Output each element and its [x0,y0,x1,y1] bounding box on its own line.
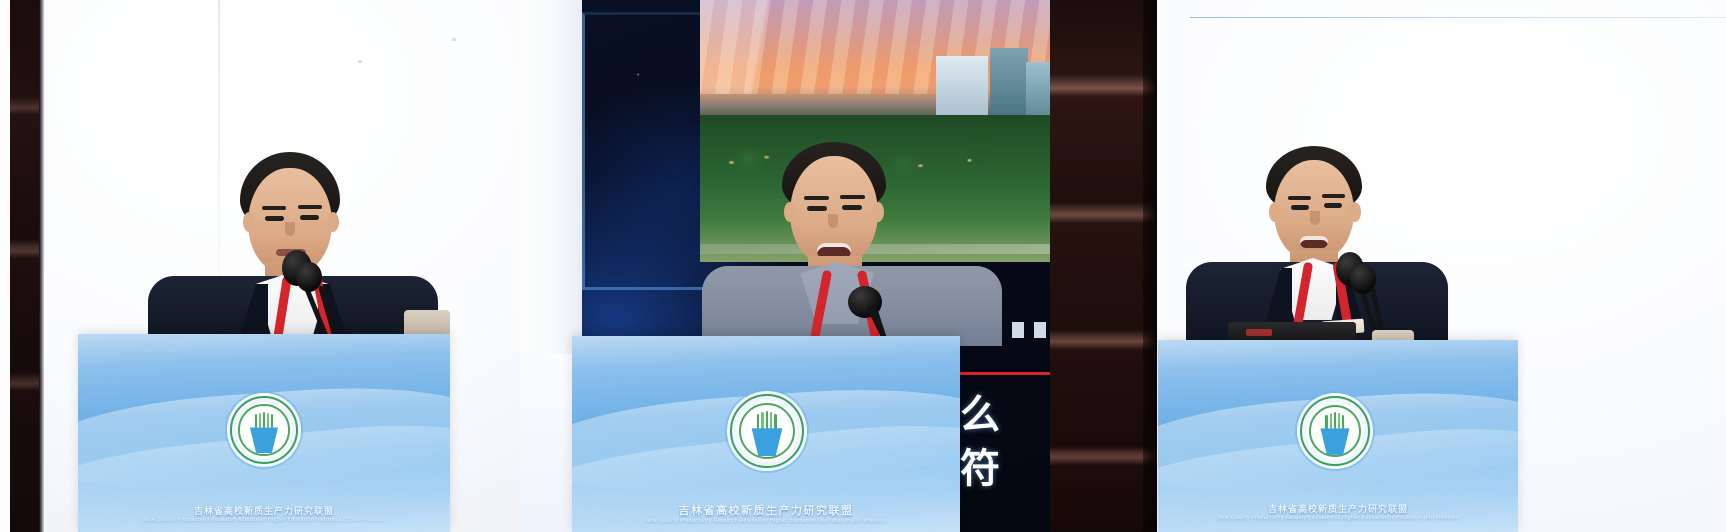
screen-speck [358,60,362,63]
slide-top-rule [1190,17,1726,18]
lectern-right: 吉林省高校新质生产力研究联盟 New Quality Productivity … [1158,340,1518,532]
alliance-emblem [1300,396,1370,466]
lectern-left: 吉林省高校新质生产力研究联盟 New Quality Productivity … [78,334,450,532]
screen-speck [452,38,456,41]
lectern-wordmark-text: 吉林省高校新质生产力研究联盟 [194,507,334,517]
lectern-center: 吉林省高校新质生产力研究联盟 New Quality Productivity … [572,336,960,532]
lectern-wordmark-right: 吉林省高校新质生产力研究联盟 New Quality Productivity … [1158,502,1518,521]
wood-wall-strip-left [10,0,40,532]
lectern-wordmark-text: 吉林省高校新质生产力研究联盟 [679,504,854,517]
laptop-logo [1246,329,1272,336]
campus-road [700,244,1050,254]
lectern-wordmark-left: 吉林省高校新质生产力研究联盟 New Quality Productivity … [78,504,450,523]
lectern-wordmark-center: 吉林省高校新质生产力研究联盟 New Quality Productivity … [572,502,960,524]
wood-column-right [1050,0,1157,532]
photo-triptych: 吉林省高校新质生产力研究联盟 New Quality Productivity … [0,0,1726,532]
alliance-emblem [230,396,298,464]
lectern-wordmark-subtext: New Quality Productivity Research Allian… [572,518,960,524]
panel-center: 地活 为么 现符 [520,0,1050,532]
panel-right: 新 2023年 黑龙江考察 力”一词 作了深入 — — — — — — — 这些… [1050,0,1726,532]
lectern-wordmark-subtext: New Quality Productivity Research Allian… [78,517,450,523]
alliance-emblem [730,394,804,468]
panel-left: 吉林省高校新质生产力研究联盟 New Quality Productivity … [0,0,520,532]
lectern-wordmark-subtext: New Quality Productivity Research Allian… [1158,515,1518,521]
lectern-wordmark-text: 吉林省高校新质生产力研究联盟 [1268,505,1408,515]
